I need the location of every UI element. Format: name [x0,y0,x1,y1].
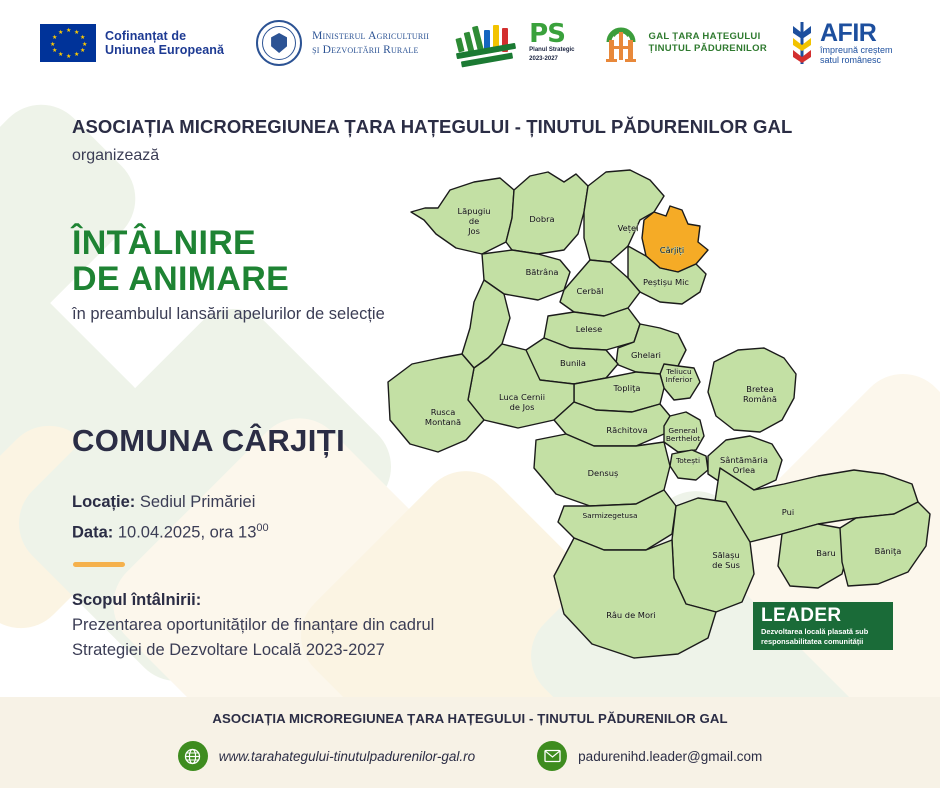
leader-title: LEADER [761,606,893,626]
leader-line1: Dezvoltarea locală plasată sub [761,627,893,636]
footer-email-item[interactable]: padurenihd.leader@gmail.com [537,741,762,771]
footer-website-text[interactable]: www.tarahategului-tinutulpadurenilor-gal… [219,749,475,764]
date-value: 10.04.2025, ora 13 [118,524,257,542]
location-row: Locație: Sediul Primăriei [72,489,269,515]
leader-line2: responsabilitatea comunității [761,637,893,646]
scope-block: Scopul întâlnirii: Prezentarea oportunit… [72,588,434,663]
headline-line1: ÎNTÂLNIRE [72,225,289,261]
poster-content: ASOCIAȚIA MICROREGIUNEA ȚARA HAȚEGULUI -… [0,0,940,788]
event-headline: ÎNTÂLNIRE DE ANIMARE [72,225,289,297]
headline-line2: DE ANIMARE [72,261,289,297]
commune-name: COMUNA CÂRJIȚI [72,423,345,459]
footer-email-text[interactable]: padurenihd.leader@gmail.com [578,749,762,764]
event-details: Locație: Sediul Primăriei Data: 10.04.20… [72,489,269,546]
scope-line1: Prezentarea oportunităților de finanțare… [72,613,434,638]
date-row: Data: 10.04.2025, ora 1300 [72,515,269,546]
organizer-title: ASOCIAȚIA MICROREGIUNEA ȚARA HAȚEGULUI -… [72,116,792,138]
poster-canvas: ★ ★ ★ ★ ★ ★ ★ ★ ★ ★ ★ ★ Cofinanțat de Un… [0,0,940,788]
envelope-icon [537,741,567,771]
footer-title: ASOCIAȚIA MICROREGIUNEA ȚARA HAȚEGULUI -… [0,711,940,726]
location-label: Locație: [72,493,135,511]
organizes-label: organizează [72,147,159,165]
scope-line2: Strategiei de Dezvoltare Locală 2023-202… [72,638,434,663]
footer-contacts: www.tarahategului-tinutulpadurenilor-gal… [0,741,940,771]
scope-label: Scopul întâlnirii: [72,591,201,609]
footer-website-item[interactable]: www.tarahategului-tinutulpadurenilor-gal… [178,741,475,771]
date-minutes: 00 [256,522,268,534]
location-value: Sediul Primăriei [140,493,256,511]
headline-subtitle: în preambulul lansării apelurilor de sel… [72,305,385,324]
poster-footer: ASOCIAȚIA MICROREGIUNEA ȚARA HAȚEGULUI -… [0,697,940,788]
leader-badge: LEADER Dezvoltarea locală plasată sub re… [753,602,893,650]
globe-icon [178,741,208,771]
date-label: Data: [72,524,113,542]
accent-divider [73,562,125,567]
